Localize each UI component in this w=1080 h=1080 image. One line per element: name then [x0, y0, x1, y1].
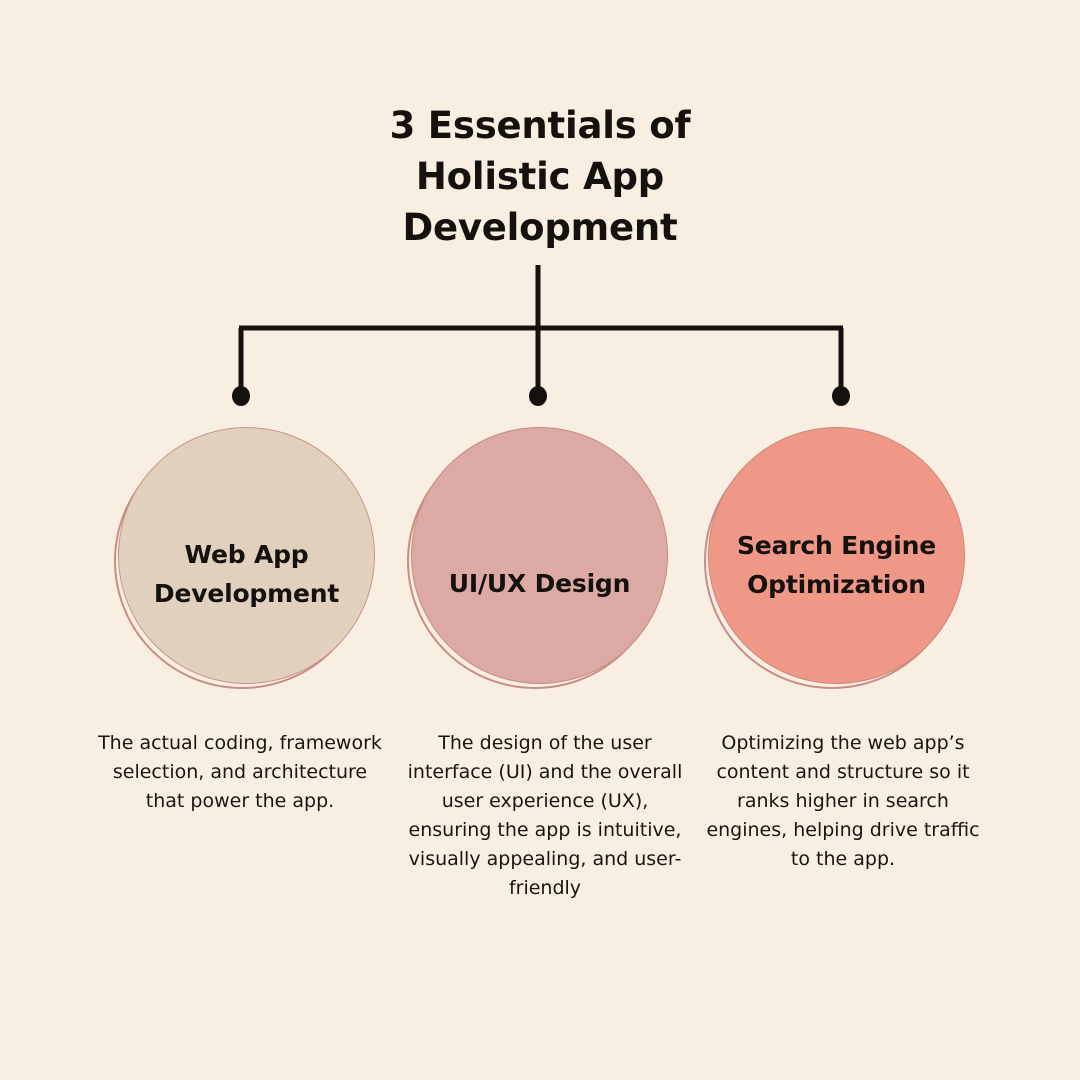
node-disc[interactable]: Web AppDevelopment	[118, 427, 375, 684]
node-label: UI/UX Design	[433, 564, 646, 603]
node-search-engine-optimization[interactable]: Search EngineOptimization	[708, 427, 966, 685]
node-label-line-2: Development	[154, 579, 339, 608]
node-description-ui-ux-design: The design of the user interface (UI) an…	[400, 729, 690, 903]
node-label-line-1: UI/UX Design	[449, 569, 630, 598]
node-disc[interactable]: UI/UX Design	[411, 427, 668, 684]
node-label-line-2: Optimization	[747, 570, 926, 599]
node-label: Web AppDevelopment	[138, 535, 355, 613]
node-description-search-engine-optimization: Optimizing the web app’s content and str…	[695, 729, 991, 874]
node-disc[interactable]: Search EngineOptimization	[708, 427, 965, 684]
node-label-line-1: Web App	[185, 540, 309, 569]
node-label-line-1: Search Engine	[737, 531, 936, 560]
node-description-web-app-development: The actual coding, framework selection, …	[92, 729, 388, 816]
node-ui-ux-design[interactable]: UI/UX Design	[411, 427, 669, 685]
node-circle-row: Web AppDevelopment UI/UX Design Search E…	[0, 0, 1080, 1080]
node-label: Search EngineOptimization	[721, 526, 952, 604]
infographic-canvas: 3 Essentials of Holistic App Development…	[0, 0, 1080, 1080]
node-web-app-development[interactable]: Web AppDevelopment	[118, 427, 376, 685]
